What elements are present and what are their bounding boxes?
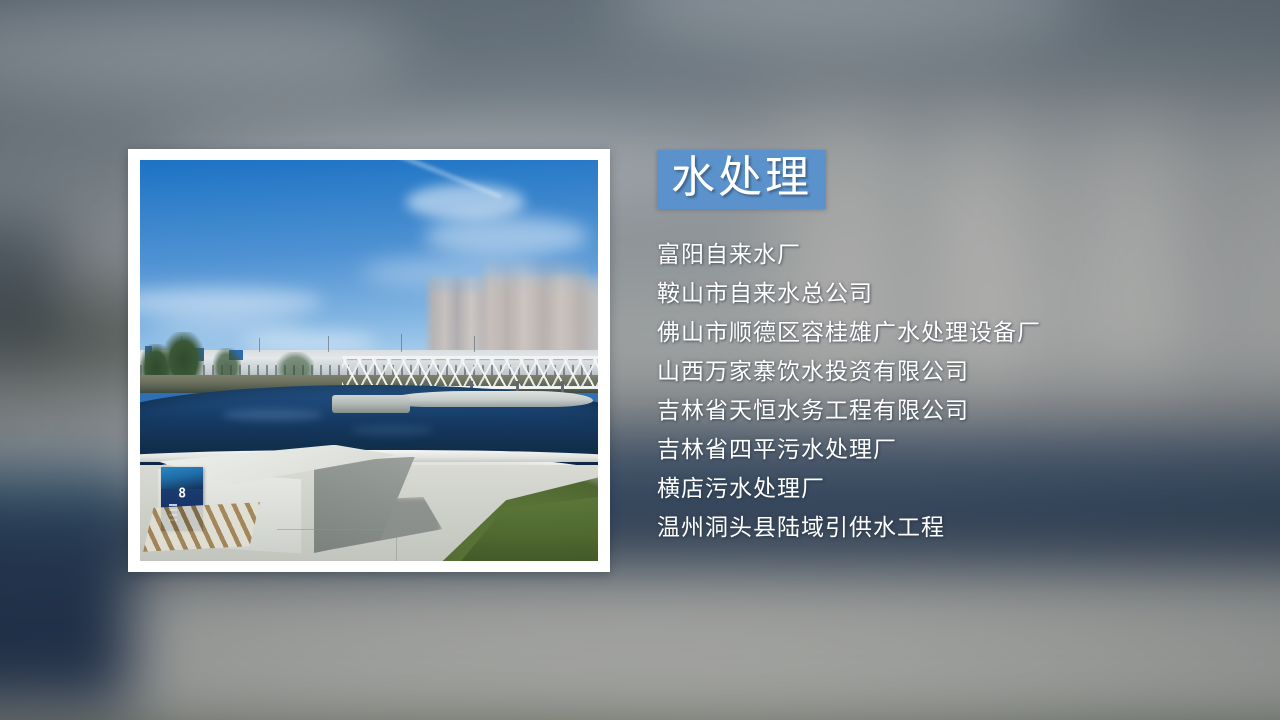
photo-mast xyxy=(401,334,402,352)
photo-cloud xyxy=(406,184,525,220)
photo-mast xyxy=(328,336,329,352)
water-treatment-plant-photo: 8 xyxy=(140,160,598,561)
photo-mast xyxy=(259,338,260,352)
list-item[interactable]: 温州洞头县陆域引供水工程 xyxy=(657,508,1247,547)
text-panel: 水处理 富阳自来水厂 鞍山市自来水总公司 佛山市顺德区容桂雄广水处理设备厂 山西… xyxy=(657,150,1247,547)
photo-water-glint xyxy=(351,425,433,435)
photo-cloud xyxy=(424,216,589,256)
photo-card[interactable]: 8 xyxy=(128,149,610,572)
list-item[interactable]: 富阳自来水厂 xyxy=(657,235,1247,274)
photo-center-well xyxy=(332,395,410,413)
photo-inner-wall xyxy=(387,391,593,407)
list-item[interactable]: 鞍山市自来水总公司 xyxy=(657,274,1247,313)
photo-concrete-seam xyxy=(396,505,397,561)
list-item[interactable]: 吉林省天恒水务工程有限公司 xyxy=(657,391,1247,430)
photo-concrete-seam xyxy=(277,529,414,530)
title-badge: 水处理 xyxy=(657,150,826,209)
photo-mast xyxy=(474,336,475,352)
list-item[interactable]: 横店污水处理厂 xyxy=(657,469,1247,508)
list-item[interactable]: 山西万家寨饮水投资有限公司 xyxy=(657,352,1247,391)
photo-water-glint xyxy=(222,409,323,421)
photo-sign-number: 8 xyxy=(178,487,186,500)
page-title: 水处理 xyxy=(671,156,812,200)
list-item[interactable]: 吉林省四平污水处理厂 xyxy=(657,430,1247,469)
photo-drainage-grate xyxy=(143,502,260,552)
company-list: 富阳自来水厂 鞍山市自来水总公司 佛山市顺德区容桂雄广水处理设备厂 山西万家寨饮… xyxy=(657,235,1247,547)
list-item[interactable]: 佛山市顺德区容桂雄广水处理设备厂 xyxy=(657,313,1247,352)
slide-root: 8 水处理 富阳自来水厂 鞍山市自来水总公司 佛山市顺德区容桂雄广水处理设备厂 … xyxy=(0,0,1280,720)
